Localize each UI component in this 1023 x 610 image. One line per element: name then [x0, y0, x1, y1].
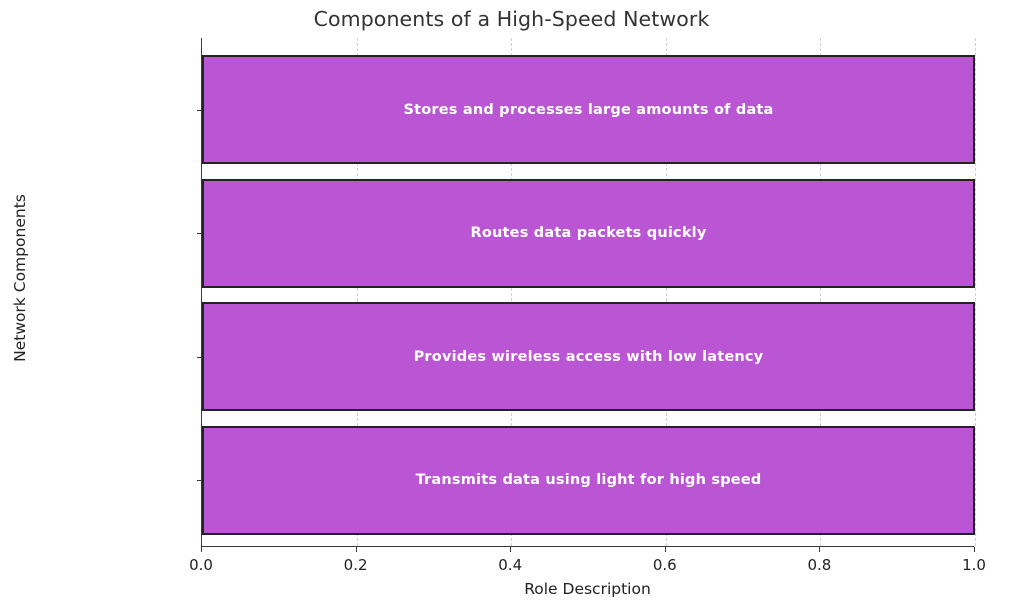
xtick-mark-3: [665, 547, 666, 552]
bar-5g-base-station[interactable]: Provides wireless access with low latenc…: [202, 302, 975, 411]
bar-fiber-optic-cable[interactable]: Transmits data using light for high spee…: [202, 426, 975, 535]
chart-title: Components of a High-Speed Network: [0, 7, 1023, 31]
xtick-mark-0: [201, 547, 202, 552]
xtick-label-4: 0.8: [807, 556, 831, 574]
bar-high-speed-router[interactable]: Routes data packets quickly: [202, 179, 975, 288]
xtick-label-5: 1.0: [962, 556, 986, 574]
bar-label-high-speed-router: Routes data packets quickly: [470, 225, 706, 241]
gridline-x-1.0: [975, 38, 976, 546]
xtick-label-3: 0.6: [653, 556, 677, 574]
plot-area: Stores and processes large amounts of da…: [201, 38, 974, 547]
bar-data-center[interactable]: Stores and processes large amounts of da…: [202, 55, 975, 164]
xtick-mark-4: [819, 547, 820, 552]
y-axis-label: Network Components: [11, 178, 29, 378]
xtick-mark-2: [510, 547, 511, 552]
xtick-label-1: 0.2: [344, 556, 368, 574]
bar-label-5g-base-station: Provides wireless access with low latenc…: [414, 349, 764, 365]
chart-figure: Components of a High-Speed Network Store…: [0, 0, 1023, 610]
xtick-label-0: 0.0: [189, 556, 213, 574]
x-axis-label: Role Description: [201, 580, 974, 598]
xtick-label-2: 0.4: [498, 556, 522, 574]
xtick-mark-1: [356, 547, 357, 552]
bar-label-data-center: Stores and processes large amounts of da…: [403, 102, 773, 118]
bar-label-fiber-optic-cable: Transmits data using light for high spee…: [416, 472, 762, 488]
xtick-mark-5: [974, 547, 975, 552]
